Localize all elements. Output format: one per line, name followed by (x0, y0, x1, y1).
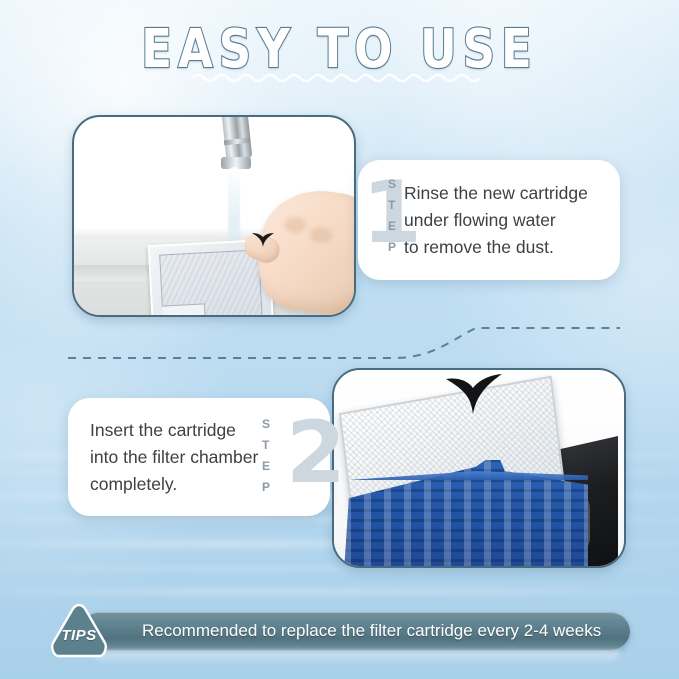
step-letter: P (388, 237, 397, 258)
step-1-marker: 1 S T E P (362, 166, 426, 270)
step-2-marker: 2 S T E P (258, 406, 322, 510)
whale-tail-tab-icon (250, 229, 276, 247)
step-1-photo (72, 115, 356, 317)
step-1-text: Rinse the new cartridge under flowing wa… (404, 180, 588, 261)
step-letter: S (388, 174, 397, 195)
page-title: EASY TO USE (0, 22, 679, 75)
step-letter: T (262, 435, 271, 456)
step-letter: E (262, 456, 271, 477)
step-2-text: Insert the cartridge into the filter cha… (90, 417, 258, 498)
tips-badge-label: TIPS (48, 602, 110, 660)
step-letter: P (262, 477, 271, 498)
tips-text: Recommended to replace the filter cartri… (80, 621, 601, 641)
step-1-word: S T E P (388, 174, 397, 258)
step-letter: E (388, 216, 397, 237)
dashed-curve-connector-icon (64, 316, 624, 382)
hand-shading (310, 227, 332, 243)
step-2-number: 2 (286, 410, 346, 496)
hand-shading (284, 217, 306, 233)
step-2-photo (332, 368, 626, 568)
water-ripple-band (0, 588, 679, 595)
wavy-line-icon (190, 70, 490, 84)
step-letter: T (388, 195, 397, 216)
tips-bar: Recommended to replace the filter cartri… (80, 612, 630, 650)
step-letter: S (262, 414, 271, 435)
step-2-word: S T E P (262, 414, 271, 498)
cartridge-notch (162, 303, 206, 317)
whale-tail-tab-icon (442, 372, 504, 414)
infographic-canvas: EASY TO USE (0, 0, 679, 679)
tips-bar-reflection (92, 650, 620, 664)
